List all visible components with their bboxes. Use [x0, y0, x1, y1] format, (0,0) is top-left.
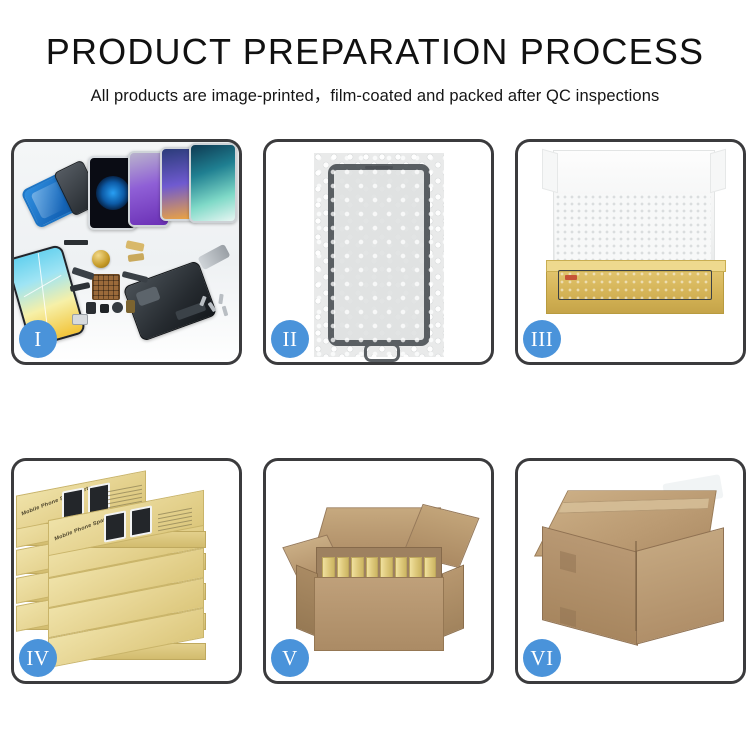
carton-corner-seam [635, 541, 637, 631]
step-badge-1: I [19, 320, 57, 358]
product-preparation-process-page: PRODUCT PREPARATION PROCESS All products… [0, 0, 750, 750]
foam-insert [555, 194, 711, 270]
flex-cable-part [64, 240, 88, 245]
page-header: PRODUCT PREPARATION PROCESS All products… [0, 0, 750, 106]
process-step-2: II [263, 139, 494, 365]
sealed-carton [538, 483, 730, 651]
flex-cable-part [128, 253, 145, 262]
open-carton [296, 495, 468, 663]
process-step-grid: I II III [11, 139, 739, 684]
copper-coil-part [92, 250, 110, 268]
page-title: PRODUCT PREPARATION PROCESS [0, 33, 750, 71]
step-badge-2: II [271, 320, 309, 358]
flex-cable-part [125, 240, 144, 252]
screws-group [199, 292, 233, 322]
repair-tool [197, 244, 230, 270]
teal-gradient-phone [189, 143, 237, 223]
process-step-1: I [11, 139, 242, 365]
step-badge-4: IV [19, 639, 57, 677]
connector-chip-part [92, 274, 120, 300]
page-subtitle: All products are image-printed，film-coat… [0, 82, 750, 106]
small-component [86, 302, 96, 314]
process-step-6: VI [515, 458, 746, 684]
process-step-5: V [263, 458, 494, 684]
step-badge-3: III [523, 320, 561, 358]
wrapped-screen-part [558, 270, 712, 300]
small-component [100, 304, 109, 313]
speaker-component [112, 302, 123, 313]
retail-box [48, 623, 204, 653]
phone-screen-outline [328, 164, 430, 346]
process-step-3: III [515, 139, 746, 365]
bubble-wrap-sheet [314, 153, 444, 357]
flex-cable-part [71, 267, 94, 280]
process-step-4: Mobile Phone Spare Parts Mobile Phone Sp… [11, 458, 242, 684]
small-component [126, 300, 135, 313]
battery-component [72, 314, 88, 325]
step-badge-6: VI [523, 639, 561, 677]
step-badge-5: V [271, 639, 309, 677]
retail-box-top-front: Mobile Phone Spare Parts [48, 505, 204, 541]
flex-cable-part [122, 271, 149, 283]
